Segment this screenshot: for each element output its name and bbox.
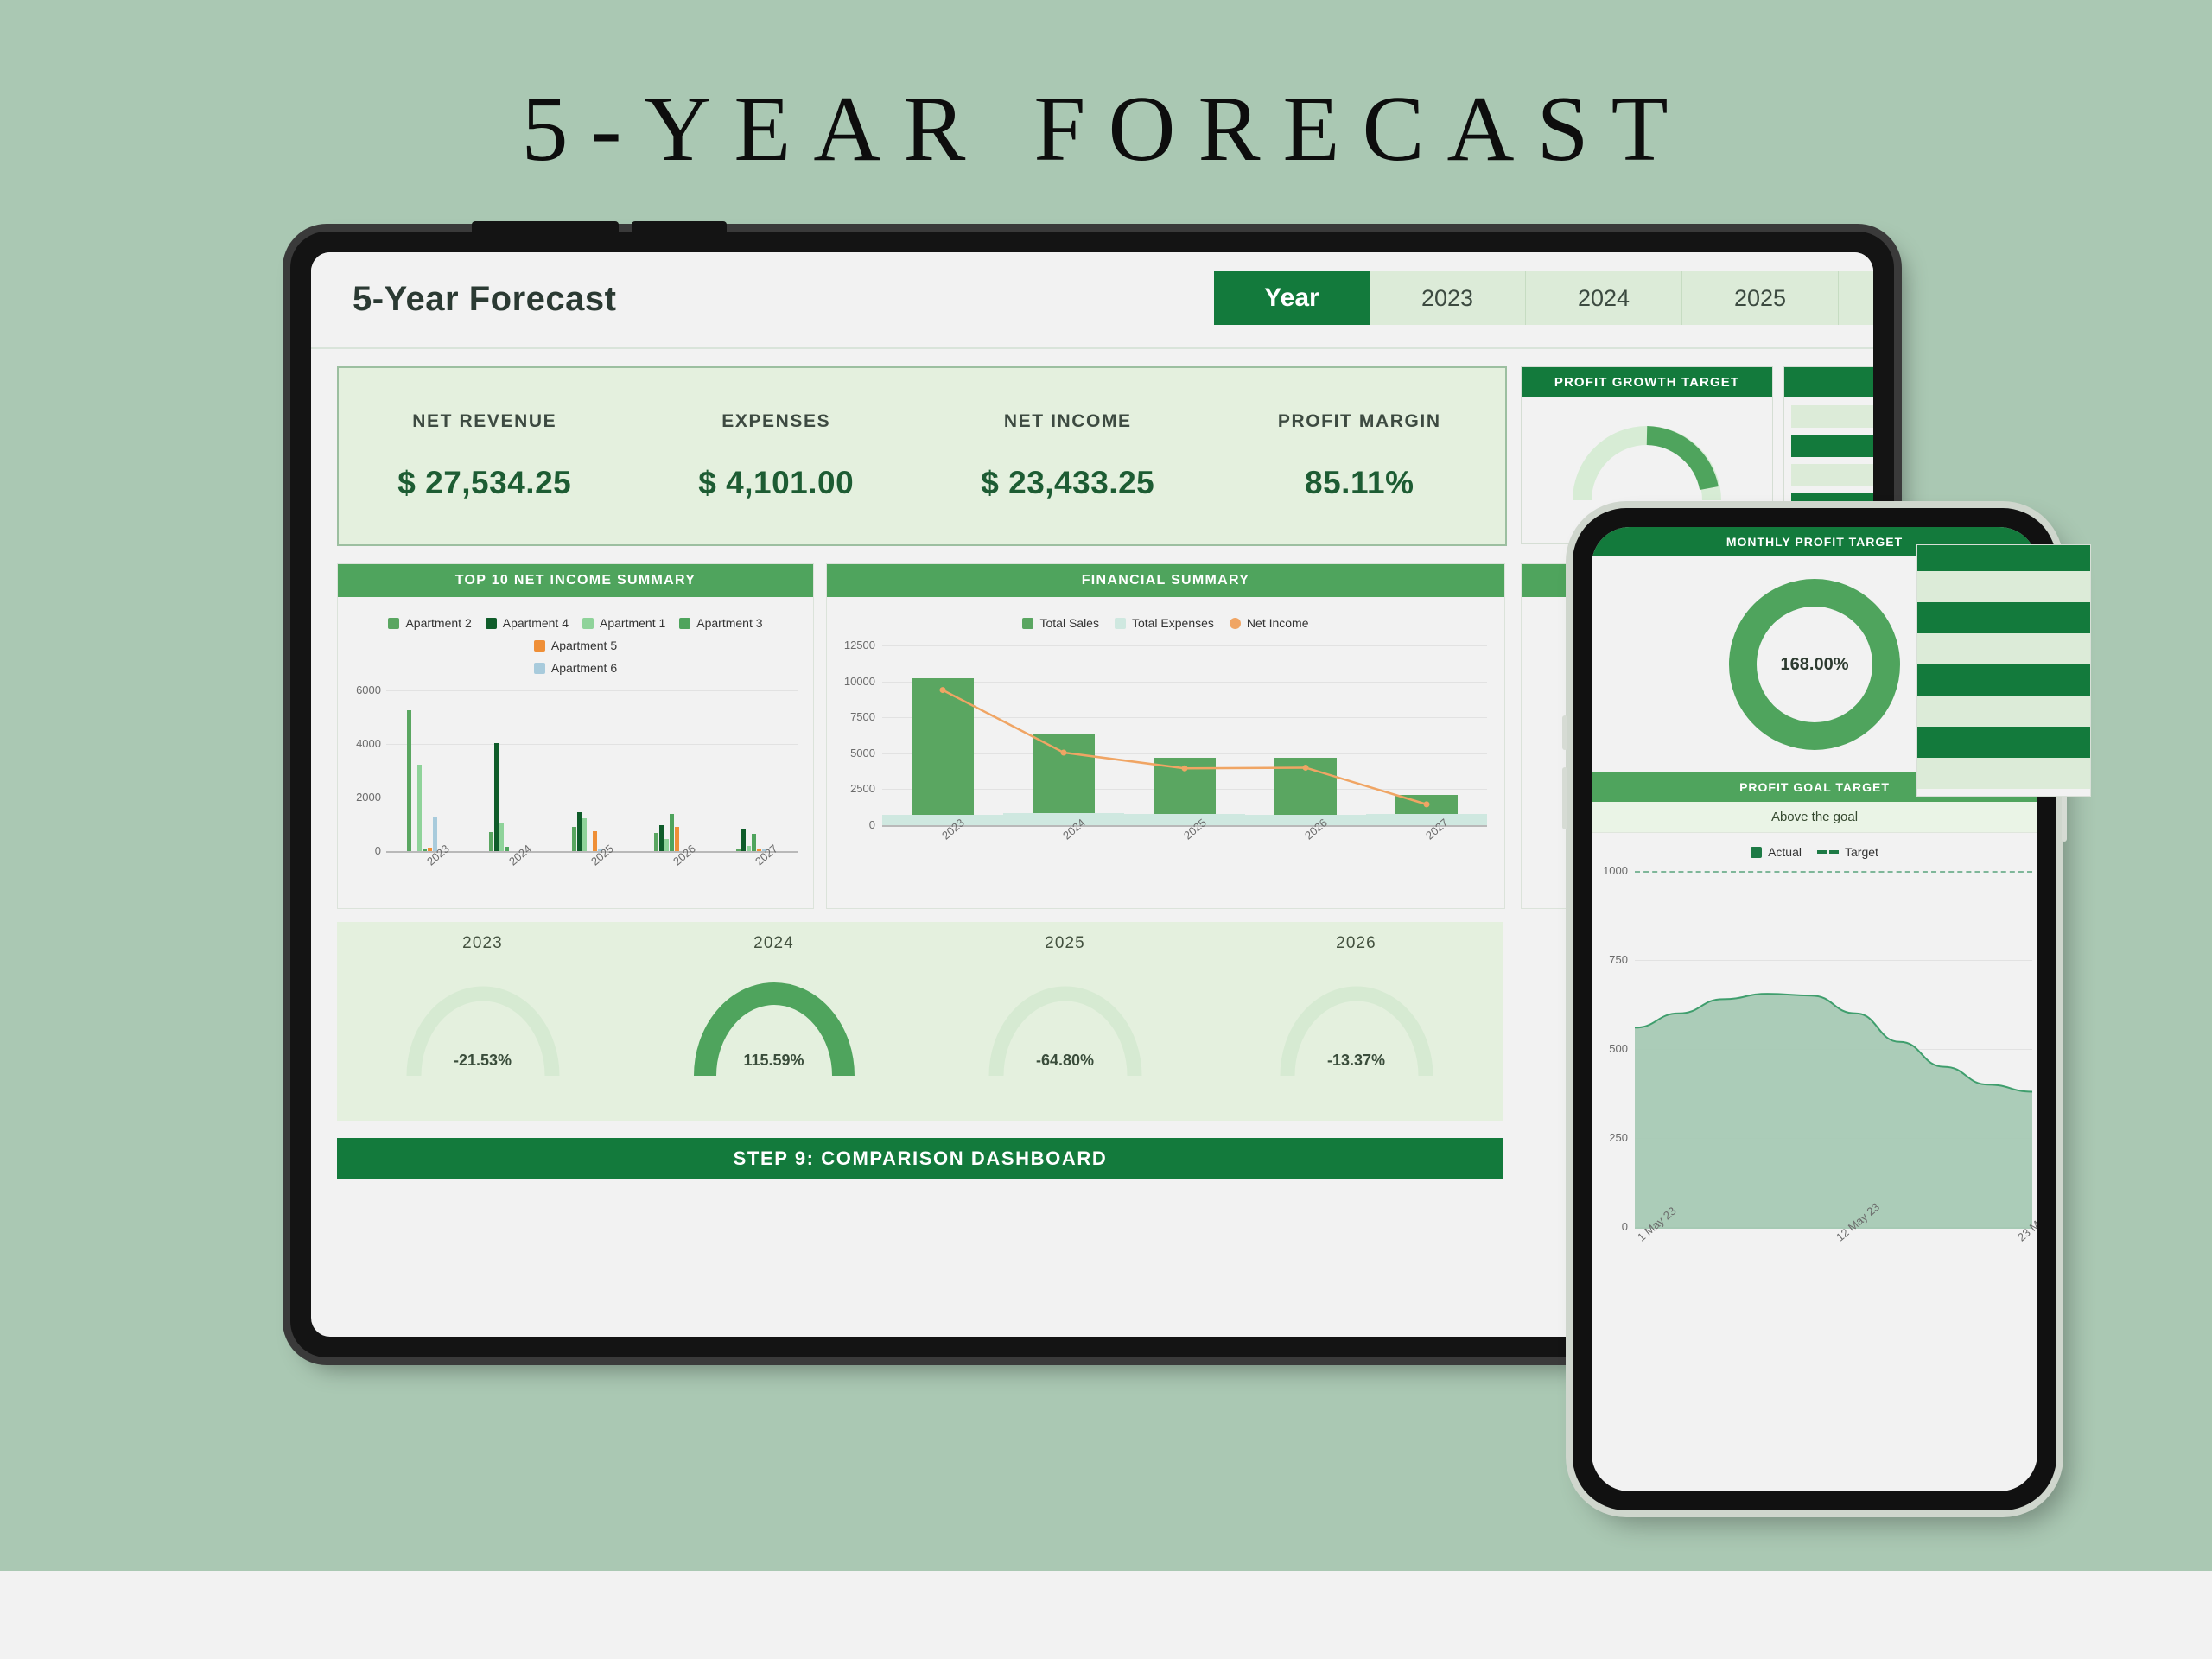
- bar: [572, 827, 576, 851]
- bar: [736, 849, 741, 851]
- gauge-2023: 2023 -21.53%: [337, 922, 628, 1121]
- bar: [1366, 814, 1487, 825]
- top-net-income-panel: TOP 10 NET INCOME SUMMARY Apartment 2 Ap…: [337, 563, 814, 909]
- bar: [1033, 734, 1096, 825]
- poster-stage: 5-YEAR FORECAST 5-Year Forecast Year 202…: [0, 0, 2212, 1659]
- yearly-growth-gauges: 2023 -21.53% 2024 115.59% 2025: [337, 922, 1503, 1121]
- bar: [670, 814, 674, 851]
- kpi-net-revenue-label: NET REVENUE: [339, 411, 631, 432]
- legend-item: Target: [1817, 845, 1878, 859]
- gauge-2024-value: 115.59%: [628, 1052, 919, 1070]
- gauge-2025-year: 2025: [919, 922, 1211, 953]
- app-title: 5-Year Forecast: [353, 280, 616, 319]
- kpi-expenses-label: EXPENSES: [631, 411, 923, 432]
- kpi-expenses-value: $ 4,101.00: [631, 465, 923, 501]
- list-item: [1917, 602, 2090, 633]
- bar: [407, 710, 411, 851]
- tab-year[interactable]: Year: [1214, 271, 1370, 325]
- financial-summary-legend: Total Sales Total Expenses Net Income: [827, 597, 1504, 630]
- bar: [489, 832, 493, 851]
- bar: [1124, 814, 1245, 825]
- bar: [593, 831, 597, 851]
- kpi-profit-margin: PROFIT MARGIN 85.11%: [1214, 411, 1506, 501]
- gauge-2024-year: 2024: [628, 922, 919, 953]
- page-title: 5-YEAR FORECAST: [0, 76, 2212, 183]
- gauge-2023-value: -21.53%: [337, 1052, 628, 1070]
- list-item: [1917, 633, 2090, 664]
- gauge-2026-year: 2026: [1211, 922, 1502, 953]
- bar: [1245, 815, 1366, 825]
- kpi-net-revenue: NET REVENUE $ 27,534.25: [339, 411, 631, 501]
- financial-summary-panel: FINANCIAL SUMMARY Total Sales Total Expe…: [826, 563, 1505, 909]
- bar: [675, 827, 679, 851]
- legend-item: Apartment 4: [486, 616, 569, 630]
- kpi-net-income-value: $ 23,433.25: [922, 465, 1214, 501]
- secondary-target-title: [1784, 367, 1873, 397]
- list-item: [1917, 758, 2090, 789]
- bar: [741, 829, 746, 851]
- legend-item: Apartment 1: [582, 616, 665, 630]
- actual-vs-target-plot: 02505007501000 1 May 2312 May 2323 May 2…: [1592, 859, 2037, 1265]
- kpi-profit-margin-label: PROFIT MARGIN: [1214, 411, 1506, 432]
- tab-2023[interactable]: 2023: [1370, 271, 1526, 325]
- monthly-profit-value: 168.00%: [1758, 607, 1872, 721]
- bar: [499, 823, 504, 851]
- app-header: 5-Year Forecast Year 2023 2024 2025 2026: [311, 252, 1873, 349]
- list-item: [1917, 664, 2090, 696]
- legend-item: Apartment 5: [534, 639, 617, 652]
- phone-volume-down-button[interactable]: [1562, 767, 1567, 829]
- bar: [654, 833, 658, 851]
- bar: [433, 817, 437, 851]
- top-net-income-plot: 020004000600020232024202520262027: [346, 683, 804, 891]
- tab-2026[interactable]: 2026: [1839, 271, 1873, 325]
- legend-item: Net Income: [1230, 616, 1309, 630]
- bar: [505, 847, 509, 851]
- area-series: [1592, 859, 2037, 1265]
- bar: [747, 846, 751, 851]
- bar: [912, 678, 975, 825]
- gauge-2025-value: -64.80%: [919, 1052, 1211, 1070]
- kpi-expenses: EXPENSES $ 4,101.00: [631, 411, 923, 501]
- step-banner-label: STEP 9: COMPARISON DASHBOARD: [734, 1147, 1108, 1170]
- legend-item: Total Sales: [1022, 616, 1098, 630]
- bar: [1003, 813, 1124, 825]
- bar: [664, 839, 669, 851]
- actual-target-legend: Actual Target: [1592, 833, 2037, 859]
- gauge-2024: 2024 115.59%: [628, 922, 919, 1121]
- gauge-2023-year: 2023: [337, 922, 628, 953]
- kpi-net-income: NET INCOME $ 23,433.25: [922, 411, 1214, 501]
- tab-2025[interactable]: 2025: [1682, 271, 1839, 325]
- kpi-net-income-label: NET INCOME: [922, 411, 1214, 432]
- legend-item: Apartment 2: [388, 616, 471, 630]
- bar: [582, 818, 587, 851]
- profit-goal-status: Above the goal: [1592, 802, 2037, 833]
- step-banner: STEP 9: COMPARISON DASHBOARD: [337, 1138, 1503, 1179]
- top-net-income-legend: Apartment 2 Apartment 4 Apartment 1 Apar…: [338, 597, 813, 675]
- list-item: [1917, 696, 2090, 727]
- bar: [494, 743, 499, 851]
- bar: [752, 834, 756, 851]
- bar: [882, 815, 1003, 825]
- legend-item: Apartment 3: [679, 616, 762, 630]
- gauge-2026: 2026 -13.37%: [1211, 922, 1502, 1121]
- gauge-2025: 2025 -64.80%: [919, 922, 1211, 1121]
- kpi-net-revenue-value: $ 27,534.25: [339, 465, 631, 501]
- financial-summary-plot: 0250050007500100001250020232024202520262…: [836, 639, 1496, 870]
- tab-2024[interactable]: 2024: [1526, 271, 1682, 325]
- financial-summary-title: FINANCIAL SUMMARY: [827, 564, 1504, 597]
- gauge-arc-icon: [1565, 405, 1729, 509]
- bar: [423, 849, 427, 851]
- side-list-card-header: [1917, 545, 2090, 571]
- legend-item: Apartment 6: [353, 661, 798, 675]
- list-item: [1917, 571, 2090, 602]
- kpi-profit-margin-value: 85.11%: [1214, 465, 1506, 501]
- top-net-income-title: TOP 10 NET INCOME SUMMARY: [338, 564, 813, 597]
- tablet-camera-notch: [472, 221, 619, 235]
- bar: [577, 812, 582, 851]
- bar: [417, 765, 422, 851]
- gauge-2026-value: -13.37%: [1211, 1052, 1502, 1070]
- tablet-speaker-notch: [632, 221, 727, 235]
- phone-volume-up-button[interactable]: [1562, 715, 1567, 750]
- side-list-card: [1916, 544, 2091, 797]
- legend-item: Actual: [1751, 845, 1802, 859]
- phone-power-button[interactable]: [2062, 793, 2067, 842]
- bar: [659, 825, 664, 851]
- list-item: [1917, 727, 2090, 758]
- profit-growth-target-title: PROFIT GROWTH TARGET: [1522, 367, 1772, 397]
- year-tab-bar[interactable]: Year 2023 2024 2025 2026: [1214, 271, 1873, 325]
- kpi-summary-card: NET REVENUE $ 27,534.25 EXPENSES $ 4,101…: [337, 366, 1507, 546]
- poster-bottom-strip: [0, 1571, 2212, 1659]
- legend-item: Total Expenses: [1115, 616, 1214, 630]
